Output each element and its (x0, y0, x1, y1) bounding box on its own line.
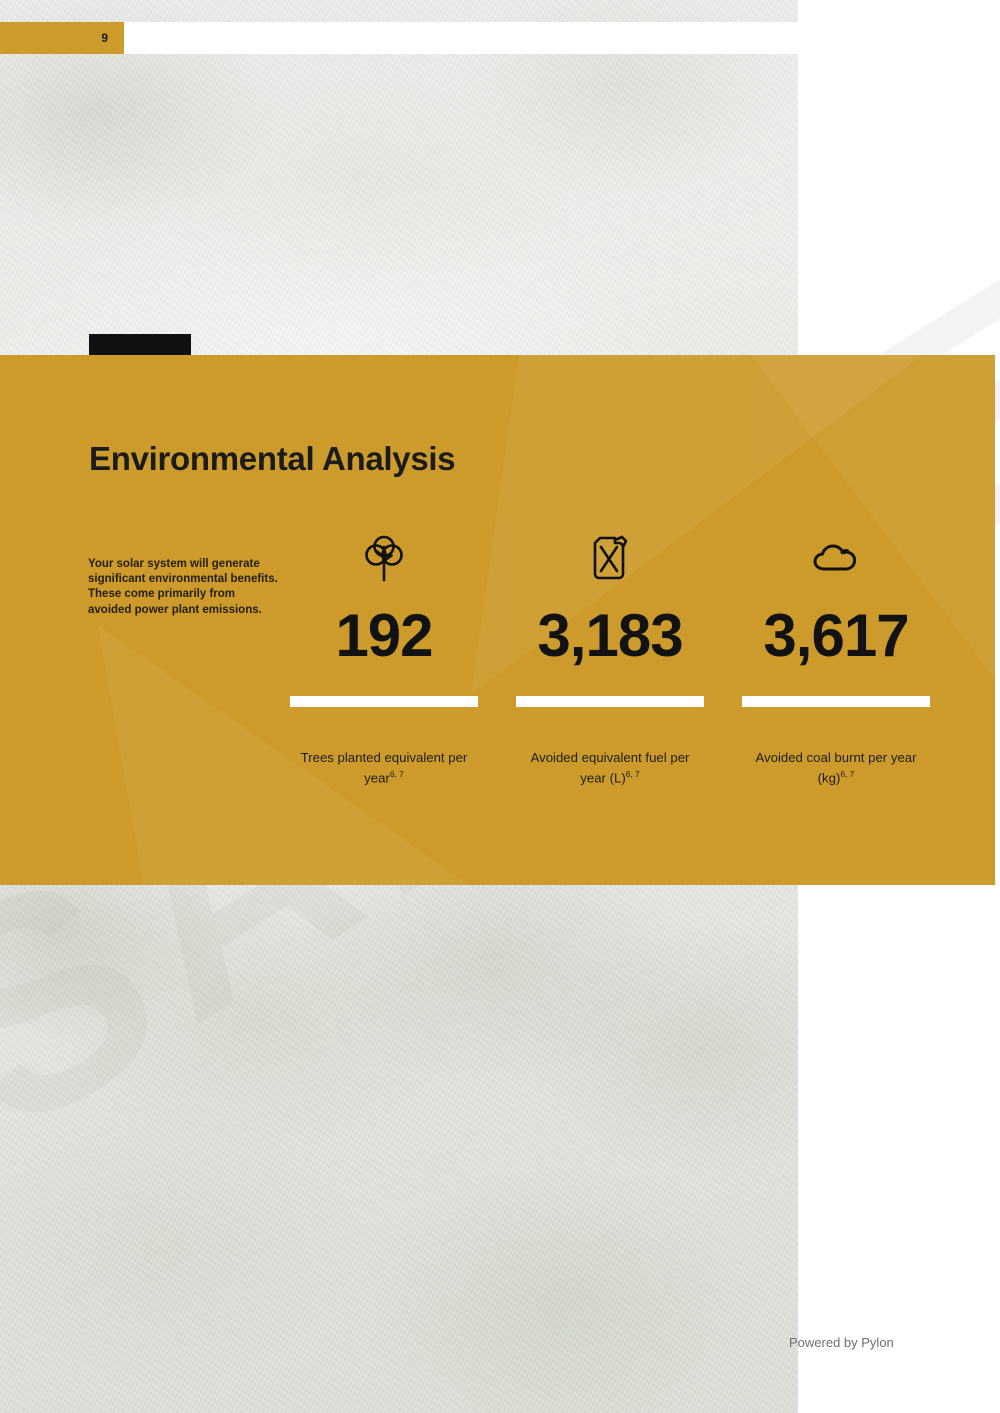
footer-attribution: Powered by Pylon (789, 1335, 894, 1350)
intro-paragraph: Your solar system will generate signific… (88, 557, 278, 618)
stat-card-trees: 192 Trees planted equivalent per year6, … (290, 530, 478, 820)
stat-divider (290, 696, 478, 707)
page-number-tab: 9 (0, 22, 124, 54)
stat-footnote: 6, 7 (840, 769, 854, 779)
stat-divider (516, 696, 704, 707)
cloud-icon (811, 530, 861, 586)
stat-label-text: Trees planted equivalent per year (301, 750, 468, 785)
stat-value: 3,617 (763, 606, 908, 666)
report-page: SAMPLE 9 Environmental Analysis Your sol… (0, 0, 1000, 1413)
page-number-label: 9 (101, 31, 108, 45)
stat-footnote: 6, 7 (626, 769, 640, 779)
stat-card-coal: 3,617 Avoided coal burnt per year (kg)6,… (742, 530, 930, 820)
tree-icon (362, 530, 406, 586)
stats-row: 192 Trees planted equivalent per year6, … (290, 530, 930, 820)
stat-value: 3,183 (537, 606, 682, 666)
stat-footnote: 6, 7 (390, 769, 404, 779)
stat-value: 192 (335, 606, 432, 666)
fuel-can-icon (589, 530, 631, 586)
stat-label: Avoided equivalent fuel per year (L)6, 7 (516, 749, 704, 786)
stat-label: Trees planted equivalent per year6, 7 (290, 749, 478, 786)
page-title: Environmental Analysis (89, 440, 455, 478)
stat-label: Avoided coal burnt per year (kg)6, 7 (742, 749, 930, 786)
black-accent-tab (89, 334, 191, 357)
stat-card-fuel: 3,183 Avoided equivalent fuel per year (… (516, 530, 704, 820)
stat-label-text: Avoided coal burnt per year (kg) (755, 750, 916, 785)
stat-divider (742, 696, 930, 707)
stat-label-text: Avoided equivalent fuel per year (L) (531, 750, 690, 785)
